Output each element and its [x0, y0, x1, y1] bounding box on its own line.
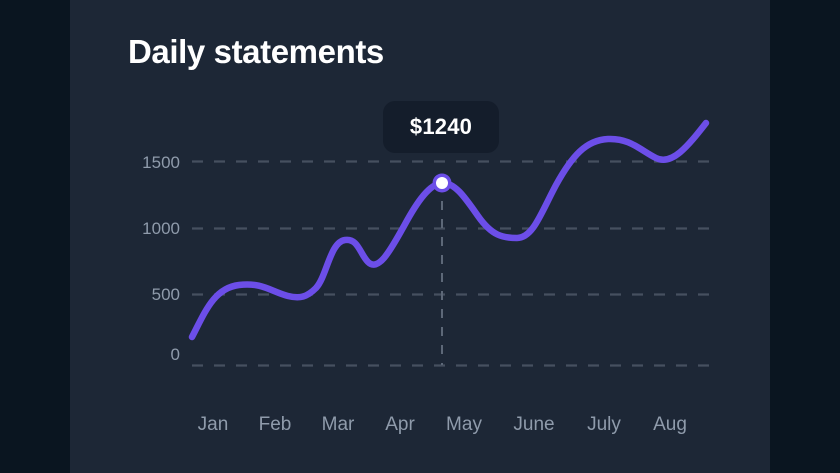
value-tooltip: $1240	[383, 101, 499, 153]
x-axis-label-july: July	[569, 414, 639, 436]
gridlines	[192, 162, 710, 366]
x-axis-label-mar: Mar	[303, 414, 373, 436]
x-axis-label-apr: Apr	[365, 414, 435, 436]
x-axis-label-jan: Jan	[178, 414, 248, 436]
x-axis-label-may: May	[429, 414, 499, 436]
y-axis-label-500: 500	[110, 285, 180, 305]
x-axis-label-june: June	[499, 414, 569, 436]
y-axis-label-1000: 1000	[110, 219, 180, 239]
x-axis-label-feb: Feb	[240, 414, 310, 436]
tooltip-value: $1240	[410, 114, 472, 140]
y-axis-label-0: 0	[110, 345, 180, 365]
y-axis-label-1500: 1500	[110, 153, 180, 173]
x-axis-label-aug: Aug	[635, 414, 705, 436]
highlight-point-marker[interactable]	[436, 177, 448, 189]
screen: Daily statements $1240 1500 1000 500 0 J…	[0, 0, 840, 473]
chart-line-series	[192, 123, 706, 337]
